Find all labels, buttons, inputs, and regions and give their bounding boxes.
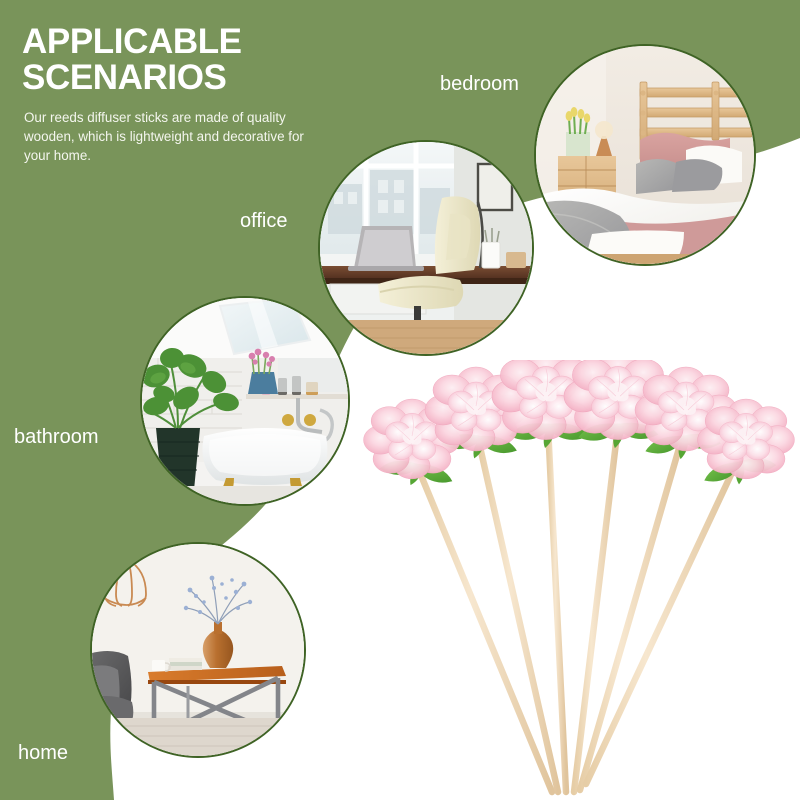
scene-photo-bedroom [534,44,756,266]
product-image-reed-diffuser-sticks [360,360,800,800]
scene-photo-office [318,140,534,356]
headline-block: APPLICABLE SCENARIOS Our reeds diffuser … [22,24,352,166]
flower-heads [364,360,795,479]
scene-label-home: home [18,743,68,763]
page-title: APPLICABLE SCENARIOS [22,24,352,97]
reed-sticks [418,426,736,792]
scene-photo-home [90,542,306,758]
scene-label-bedroom: bedroom [440,74,519,94]
subtitle-text: Our reeds diffuser sticks are made of qu… [24,108,324,166]
scene-photo-bathroom [140,296,350,506]
scene-label-bathroom: bathroom [14,427,99,447]
product-infographic: APPLICABLE SCENARIOS Our reeds diffuser … [0,0,800,800]
scene-label-office: office [240,211,287,231]
